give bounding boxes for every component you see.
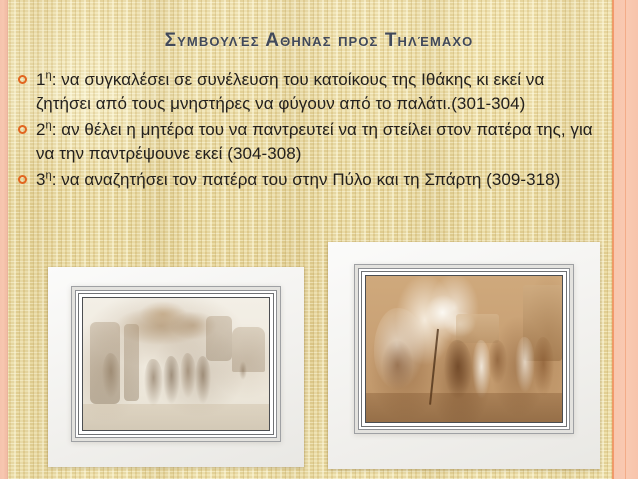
arch-shape xyxy=(232,327,265,372)
cloud-shape xyxy=(113,306,210,346)
list-item: 2η: αν θέλει η μητέρα του να παντρευτεί … xyxy=(18,118,598,166)
architecture-right xyxy=(206,316,232,361)
figure-group-left xyxy=(374,308,425,390)
right-edge-rule-inner xyxy=(625,0,626,479)
figure-shape xyxy=(195,356,212,404)
right-artwork-image xyxy=(365,275,563,423)
figure-shape xyxy=(102,353,121,398)
spear-shape xyxy=(429,328,439,404)
figure-shape xyxy=(488,340,508,384)
ordinal-superscript: η xyxy=(46,169,52,181)
figure-shape xyxy=(444,340,471,398)
ordinal-superscript: η xyxy=(46,119,52,131)
list-item-text: 3η: να αναζητήσει τον πατέρα του στην Πύ… xyxy=(36,168,598,192)
hollow-circle-bullet-icon xyxy=(18,175,27,184)
smoke-shape xyxy=(425,294,460,332)
column-shape xyxy=(124,324,139,401)
figure-shape xyxy=(382,340,413,390)
bullet-list: 1η: να συγκαλέσει σε συνέλευση του κατοί… xyxy=(18,68,598,194)
tower-shape xyxy=(523,285,562,361)
left-edge-rule xyxy=(7,0,8,479)
slide: Συμβουλές Αθηνάς προς Τηλέμαχο 1η: να συ… xyxy=(0,0,638,479)
list-item-text: 2η: αν θέλει η μητέρα του να παντρευτεί … xyxy=(36,118,598,166)
cloud-shape xyxy=(139,301,187,327)
list-item: 1η: να συγκαλέσει σε συνέλευση του κατοί… xyxy=(18,68,598,116)
left-artwork-scene xyxy=(83,298,269,430)
ordinal-superscript: η xyxy=(46,69,52,81)
figure-shape xyxy=(144,359,163,407)
figure-shape xyxy=(180,353,197,398)
left-artwork-frame xyxy=(78,293,274,435)
ground-shape xyxy=(366,393,562,423)
architecture-left xyxy=(90,322,120,404)
figure-shape xyxy=(163,356,180,404)
hollow-circle-bullet-icon xyxy=(18,125,27,134)
cloud-shape xyxy=(169,311,217,340)
hollow-circle-bullet-icon xyxy=(18,75,27,84)
left-artwork xyxy=(48,267,304,467)
smoke-shape xyxy=(444,311,475,337)
right-artwork-scene xyxy=(366,276,562,422)
right-edge-rule-outer xyxy=(612,0,614,479)
left-artwork-image xyxy=(82,297,270,431)
right-artwork-frame xyxy=(361,271,567,427)
ground-shape xyxy=(83,404,269,430)
list-item-text: 1η: να συγκαλέσει σε συνέλευση του κατοί… xyxy=(36,68,598,116)
page-title: Συμβουλές Αθηνάς προς Τηλέμαχο xyxy=(30,29,608,53)
figure-shape xyxy=(472,340,492,398)
figure-shape xyxy=(533,337,555,395)
ruin-shape xyxy=(456,314,499,343)
figure-shape xyxy=(239,361,246,379)
list-item: 3η: να αναζητήσει τον πατέρα του στην Πύ… xyxy=(18,168,598,192)
figure-shape xyxy=(515,337,535,392)
right-artwork xyxy=(328,242,600,469)
